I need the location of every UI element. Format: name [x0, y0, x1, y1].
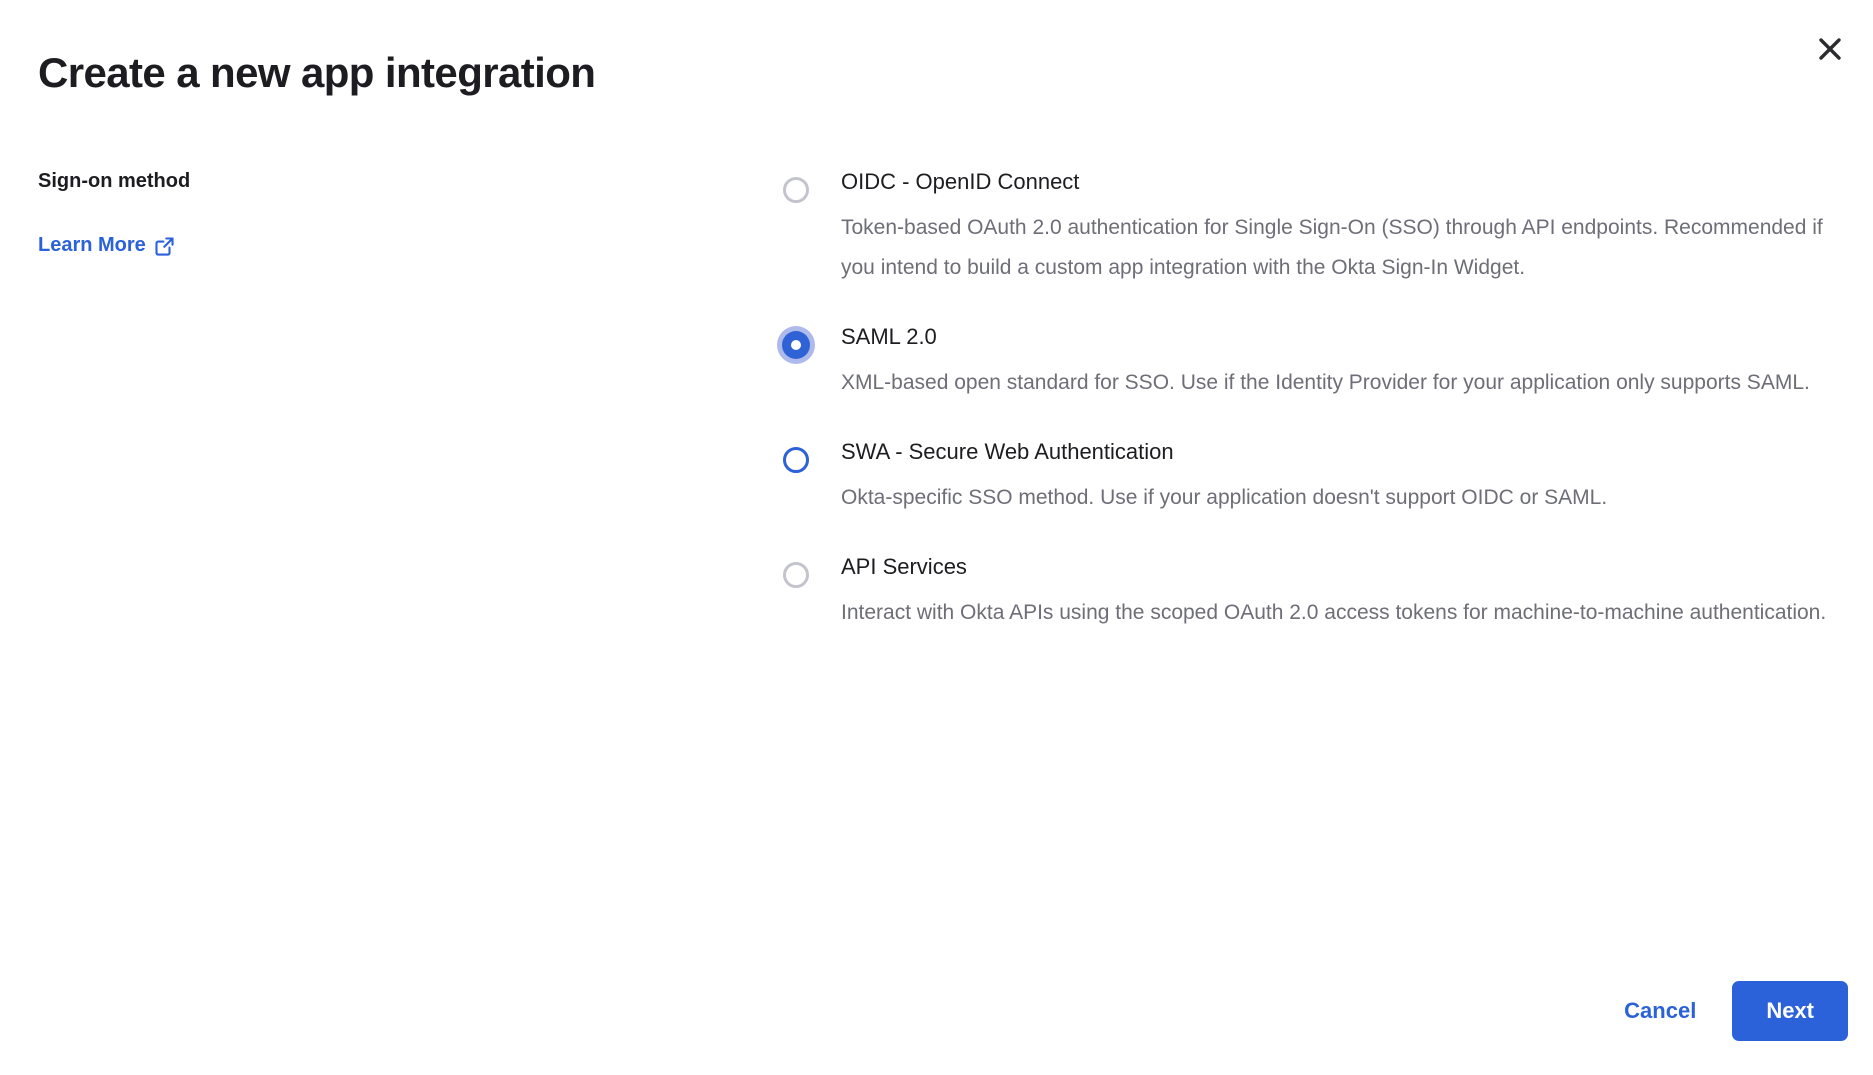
option-swa-label: SWA - Secure Web Authentication [841, 438, 1837, 466]
close-dialog-button[interactable] [1805, 24, 1855, 74]
page-title: Create a new app integration [38, 48, 595, 98]
option-api-services-label: API Services [841, 553, 1837, 581]
radio-api-services[interactable] [777, 556, 815, 594]
option-swa[interactable]: SWA - Secure Web Authentication Okta-spe… [777, 438, 1837, 518]
option-api-services-description: Interact with Okta APIs using the scoped… [841, 593, 1837, 633]
option-oidc-label: OIDC - OpenID Connect [841, 168, 1837, 196]
option-oidc-description: Token-based OAuth 2.0 authentication for… [841, 208, 1837, 288]
cancel-button[interactable]: Cancel [1602, 984, 1718, 1038]
option-api-services[interactable]: API Services Interact with Okta APIs usi… [777, 553, 1837, 633]
next-button[interactable]: Next [1732, 981, 1848, 1041]
dialog-footer: Cancel Next [1602, 981, 1848, 1041]
sign-on-method-column: Sign-on method Learn More [38, 168, 598, 257]
learn-more-label: Learn More [38, 234, 146, 257]
option-saml-description: XML-based open standard for SSO. Use if … [841, 363, 1837, 403]
option-saml-label: SAML 2.0 [841, 323, 1837, 351]
learn-more-link[interactable]: Learn More [38, 234, 174, 257]
radio-oidc[interactable] [777, 171, 815, 209]
radio-swa[interactable] [777, 441, 815, 479]
sign-on-method-options: OIDC - OpenID Connect Token-based OAuth … [777, 168, 1837, 633]
option-swa-description: Okta-specific SSO method. Use if your ap… [841, 478, 1837, 518]
radio-oidc-ring [783, 177, 809, 203]
radio-api-services-ring [783, 562, 809, 588]
external-link-icon [155, 236, 174, 256]
sign-on-method-label: Sign-on method [38, 168, 598, 194]
radio-saml-ring [782, 331, 810, 359]
option-oidc[interactable]: OIDC - OpenID Connect Token-based OAuth … [777, 168, 1837, 288]
radio-swa-ring [783, 447, 809, 473]
option-saml[interactable]: SAML 2.0 XML-based open standard for SSO… [777, 323, 1837, 403]
close-icon [1817, 36, 1843, 62]
radio-saml[interactable] [777, 326, 815, 364]
